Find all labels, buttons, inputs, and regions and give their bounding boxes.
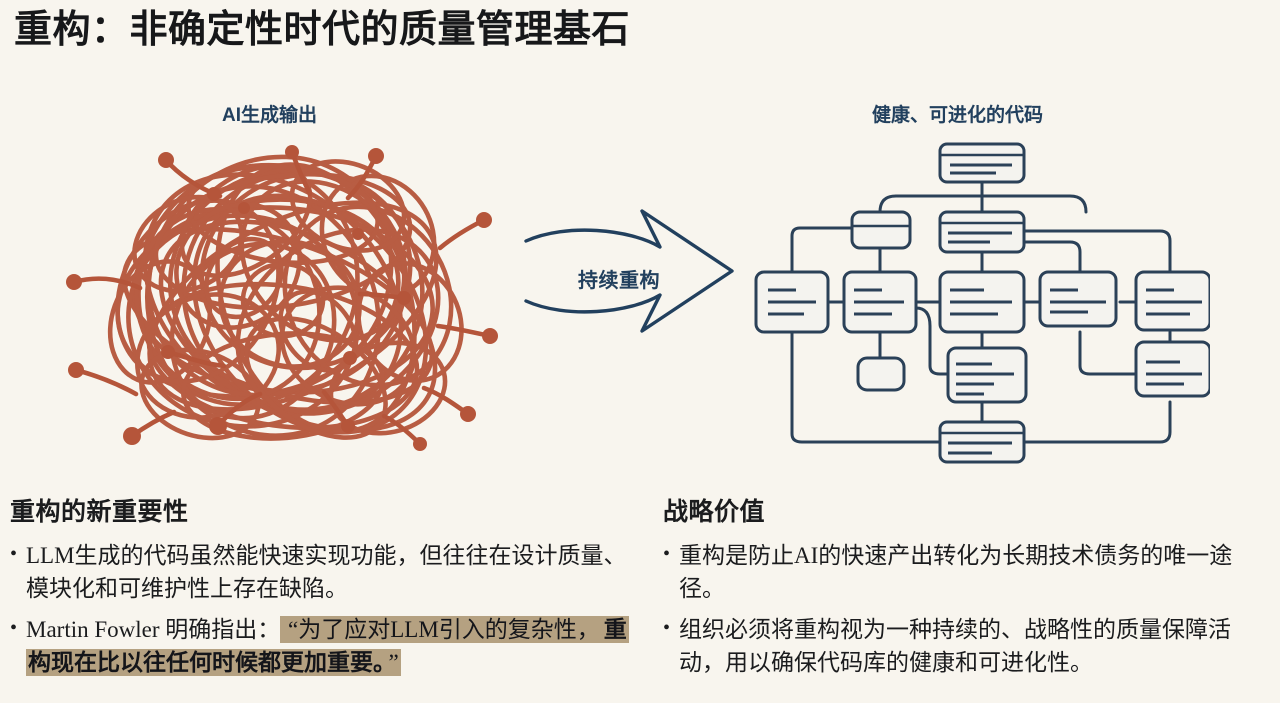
bullet-marker: • [10, 540, 26, 568]
quote-highlight-close: ” [387, 649, 401, 676]
bullet-marker: • [10, 614, 26, 642]
bullet-segment: 重构是防止AI的快速产出转化为长期技术债务的唯一途径。 [679, 543, 1232, 601]
page-title: 重构：非确定性时代的质量管理基石 [14, 8, 630, 54]
healthy-code-flowchart [740, 130, 1210, 475]
column-right: 战略价值 • 重构是防止AI的快速产出转化为长期技术债务的唯一途径。 • 组织必… [663, 492, 1275, 689]
bullet-segment: 组织必须将重构视为一种持续的、战略性的质量保障活动，用以确保代码库的健康和可进化… [679, 617, 1231, 675]
quote-highlight-open: “为了应对LLM引入的复杂性， [280, 616, 602, 643]
bullet-marker: • [663, 614, 679, 642]
slide-canvas: 重构：非确定性时代的质量管理基石 AI生成输出 健康、可进化的代码 [0, 0, 1280, 703]
bullet-segment: Martin Fowler 明确指出： [26, 617, 280, 642]
tangled-code-illustration [48, 126, 518, 474]
list-item: • Martin Fowler 明确指出： “为了应对LLM引入的复杂性，重构现… [10, 614, 640, 679]
right-figure-caption: 健康、可进化的代码 [872, 100, 1043, 127]
arrow-label: 持续重构 [578, 264, 660, 293]
bullet-text: Martin Fowler 明确指出： “为了应对LLM引入的复杂性，重构现在比… [26, 614, 640, 679]
list-item: • LLM生成的代码虽然能快速实现功能，但往往在设计质量、模块化和可维护性上存在… [10, 540, 640, 605]
bullet-segment: LLM生成的代码虽然能快速实现功能，但往往在设计质量、模块化和可维护性上存在缺陷… [26, 543, 627, 601]
bullet-text: LLM生成的代码虽然能快速实现功能，但往往在设计质量、模块化和可维护性上存在缺陷… [26, 540, 640, 605]
column-right-heading: 战略价值 [663, 492, 1275, 528]
column-left: 重构的新重要性 • LLM生成的代码虽然能快速实现功能，但往往在设计质量、模块化… [10, 492, 640, 689]
column-left-heading: 重构的新重要性 [10, 492, 640, 528]
left-figure-caption: AI生成输出 [222, 100, 317, 127]
bullet-text: 组织必须将重构视为一种持续的、战略性的质量保障活动，用以确保代码库的健康和可进化… [679, 614, 1275, 679]
list-item: • 组织必须将重构视为一种持续的、战略性的质量保障活动，用以确保代码库的健康和可… [663, 614, 1275, 679]
list-item: • 重构是防止AI的快速产出转化为长期技术债务的唯一途径。 [663, 540, 1275, 605]
bullet-marker: • [663, 540, 679, 568]
bullet-text: 重构是防止AI的快速产出转化为长期技术债务的唯一途径。 [679, 540, 1275, 605]
